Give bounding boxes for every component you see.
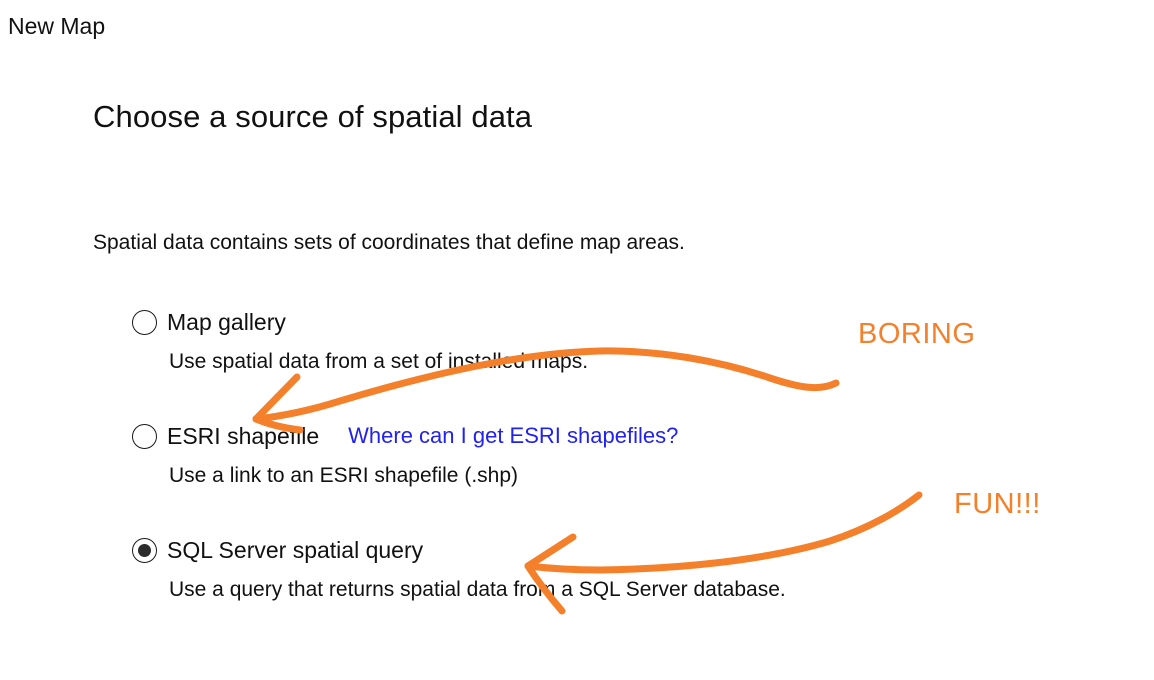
- esri-shapefile-help-link[interactable]: Where can I get ESRI shapefiles?: [348, 421, 678, 451]
- radio-button-sql-server-spatial-query[interactable]: [132, 538, 157, 563]
- option-esri-shapefile[interactable]: ESRI shapefile Where can I get ESRI shap…: [132, 418, 1072, 532]
- option-label-sql-server-spatial-query: SQL Server spatial query: [167, 535, 423, 565]
- window-title: New Map: [8, 12, 105, 40]
- option-description-sql-server-spatial-query: Use a query that returns spatial data fr…: [169, 576, 786, 604]
- wizard-content: Choose a source of spatial data Spatial …: [93, 96, 1093, 138]
- option-row[interactable]: Map gallery: [132, 304, 1072, 340]
- radio-button-map-gallery[interactable]: [132, 310, 157, 335]
- page-description: Spatial data contains sets of coordinate…: [93, 229, 685, 257]
- option-description-map-gallery: Use spatial data from a set of installed…: [169, 348, 588, 376]
- option-map-gallery[interactable]: Map gallery Use spatial data from a set …: [132, 304, 1072, 418]
- option-row[interactable]: ESRI shapefile Where can I get ESRI shap…: [132, 418, 1072, 454]
- option-sql-server-spatial-query[interactable]: SQL Server spatial query Use a query tha…: [132, 532, 1072, 646]
- page-title: Choose a source of spatial data: [93, 96, 1093, 138]
- spatial-source-radio-group: Map gallery Use spatial data from a set …: [132, 304, 1072, 646]
- new-map-wizard-page: New Map Choose a source of spatial data …: [0, 0, 1154, 675]
- option-row[interactable]: SQL Server spatial query: [132, 532, 1072, 568]
- option-label-map-gallery: Map gallery: [167, 307, 286, 337]
- radio-button-esri-shapefile[interactable]: [132, 424, 157, 449]
- option-label-esri-shapefile: ESRI shapefile: [167, 421, 319, 451]
- option-description-esri-shapefile: Use a link to an ESRI shapefile (.shp): [169, 462, 518, 490]
